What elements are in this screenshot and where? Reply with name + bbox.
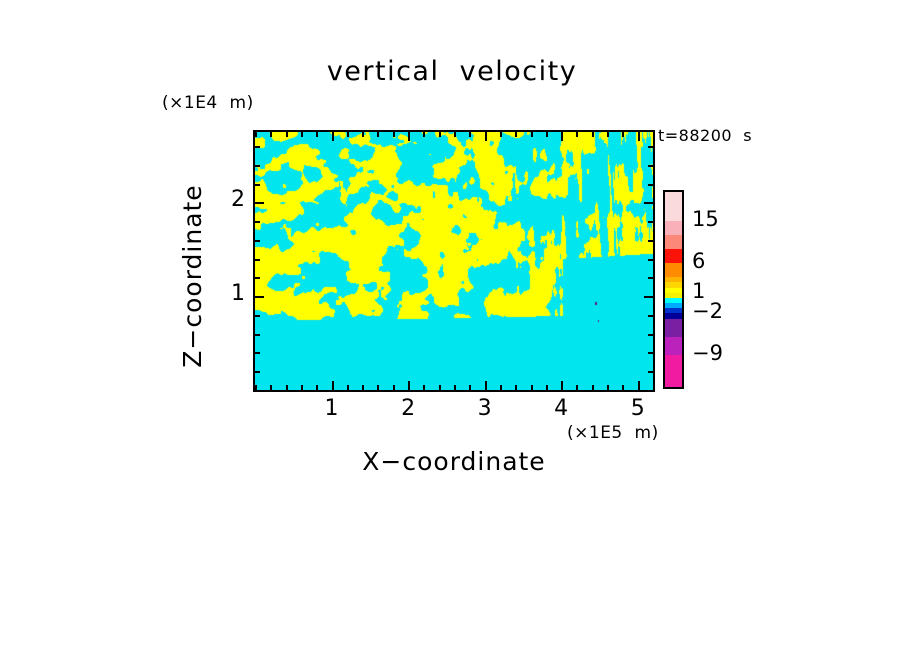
x-minor-tick: [469, 132, 471, 137]
x-minor-tick: [546, 385, 548, 390]
colorbar-band: [665, 192, 682, 222]
x-minor-tick: [500, 132, 502, 137]
x-minor-tick: [347, 385, 349, 390]
x-minor-tick: [301, 132, 303, 137]
y-minor-tick: [255, 240, 260, 242]
x-minor-tick: [546, 132, 548, 137]
x-minor-tick: [531, 385, 533, 390]
x-minor-tick: [592, 132, 594, 137]
x-minor-tick: [301, 385, 303, 390]
x-minor-tick: [515, 385, 517, 390]
y-minor-tick: [648, 240, 653, 242]
x-major-tick: [332, 132, 334, 141]
y-minor-tick: [648, 165, 653, 167]
x-major-tick: [408, 132, 410, 141]
x-minor-tick: [377, 385, 379, 390]
x-minor-tick: [607, 132, 609, 137]
colorbar-band: [665, 235, 682, 250]
colorbar-band: [665, 319, 682, 338]
y-minor-tick: [255, 165, 260, 167]
y-minor-tick: [648, 221, 653, 223]
y-tick-label: 1: [205, 281, 245, 306]
page-title: vertical velocity: [0, 56, 904, 87]
x-minor-tick: [316, 132, 318, 137]
colorbar-tick-label: −9: [692, 341, 723, 365]
x-minor-tick: [270, 132, 272, 137]
x-major-tick: [408, 381, 410, 390]
y-minor-tick: [648, 371, 653, 373]
y-minor-tick: [255, 352, 260, 354]
x-minor-tick: [393, 132, 395, 137]
x-minor-tick: [362, 385, 364, 390]
x-minor-tick: [515, 132, 517, 137]
x-minor-tick: [423, 132, 425, 137]
x-minor-tick: [423, 385, 425, 390]
plot-area: [253, 130, 655, 392]
colorbar: [663, 190, 684, 389]
x-minor-tick: [255, 132, 257, 137]
y-minor-tick: [648, 390, 653, 392]
y-major-tick: [644, 202, 653, 204]
x-minor-tick: [439, 385, 441, 390]
x-minor-tick: [500, 385, 502, 390]
x-minor-tick: [592, 385, 594, 390]
y-minor-tick: [648, 334, 653, 336]
y-minor-tick: [255, 371, 260, 373]
x-minor-tick: [607, 385, 609, 390]
x-minor-tick: [286, 385, 288, 390]
y-minor-tick: [648, 184, 653, 186]
x-minor-tick: [362, 132, 364, 137]
x-minor-tick: [653, 132, 655, 137]
x-minor-tick: [439, 132, 441, 137]
x-minor-tick: [316, 385, 318, 390]
x-minor-tick: [347, 132, 349, 137]
x-major-tick: [485, 381, 487, 390]
x-major-tick: [561, 381, 563, 390]
y-minor-tick: [255, 146, 260, 148]
x-major-tick: [561, 132, 563, 141]
colorbar-band: [665, 263, 682, 278]
y-minor-tick: [648, 352, 653, 354]
x-minor-tick: [576, 385, 578, 390]
colorbar-tick-label: 6: [692, 249, 705, 273]
y-minor-tick: [648, 146, 653, 148]
x-axis-unit-label: (×1E5 m): [567, 423, 659, 443]
y-major-tick: [255, 202, 264, 204]
y-major-tick: [644, 296, 653, 298]
y-minor-tick: [255, 184, 260, 186]
x-minor-tick: [576, 132, 578, 137]
x-major-tick: [638, 381, 640, 390]
colorbar-tick-label: −2: [692, 299, 723, 323]
colorbar-band: [665, 249, 682, 264]
x-tick-label: 5: [618, 396, 658, 421]
x-major-tick: [485, 132, 487, 141]
colorbar-band: [665, 355, 682, 387]
x-tick-label: 2: [388, 396, 428, 421]
y-tick-label: 2: [205, 187, 245, 212]
x-minor-tick: [393, 385, 395, 390]
x-minor-tick: [454, 385, 456, 390]
y-minor-tick: [255, 221, 260, 223]
x-minor-tick: [622, 132, 624, 137]
time-annotation: t=88200 s: [658, 126, 752, 145]
y-minor-tick: [648, 315, 653, 317]
x-tick-label: 3: [465, 396, 505, 421]
colorbar-tick-label: 15: [692, 207, 719, 231]
x-major-tick: [332, 381, 334, 390]
y-major-tick: [255, 296, 264, 298]
y-minor-tick: [255, 259, 260, 261]
x-minor-tick: [653, 385, 655, 390]
x-minor-tick: [270, 385, 272, 390]
y-minor-tick: [255, 334, 260, 336]
x-major-tick: [638, 132, 640, 141]
y-minor-tick: [255, 390, 260, 392]
colorbar-band: [665, 337, 682, 356]
velocity-field-heatmap: [255, 132, 653, 390]
colorbar-band: [665, 221, 682, 236]
y-minor-tick: [648, 277, 653, 279]
figure-canvas: vertical velocity (×1E4 m) (×1E5 m) t=88…: [0, 0, 904, 654]
y-minor-tick: [255, 315, 260, 317]
x-minor-tick: [377, 132, 379, 137]
x-tick-label: 4: [541, 396, 581, 421]
x-minor-tick: [531, 132, 533, 137]
x-minor-tick: [622, 385, 624, 390]
x-tick-label: 1: [312, 396, 352, 421]
y-minor-tick: [648, 259, 653, 261]
x-minor-tick: [469, 385, 471, 390]
y-minor-tick: [255, 277, 260, 279]
x-minor-tick: [286, 132, 288, 137]
y-axis-unit-label: (×1E4 m): [162, 93, 254, 113]
x-minor-tick: [454, 132, 456, 137]
x-axis-title: X−coordinate: [253, 447, 655, 476]
